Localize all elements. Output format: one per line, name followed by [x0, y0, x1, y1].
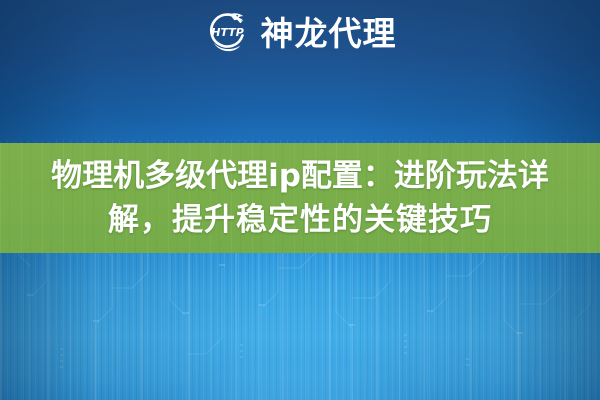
page-title-line-2: 解，提升稳定性的关键技巧	[108, 198, 492, 242]
brand-lockup: HTTP 神龙代理	[204, 9, 397, 57]
page-title-line-1: 物理机多级代理ip配置：进阶玩法详	[51, 154, 549, 198]
promo-banner: HTTP 神龙代理 物理机多级代理ip配置：进阶玩法详 解，提升稳定性的关键技巧	[0, 0, 600, 400]
brand-name: 神龙代理	[261, 17, 397, 50]
dragon-http-circle-logo: HTTP	[204, 9, 252, 57]
title-band: 物理机多级代理ip配置：进阶玩法详 解，提升稳定性的关键技巧	[0, 143, 600, 253]
svg-text:HTTP: HTTP	[211, 26, 244, 39]
banner-header: HTTP 神龙代理	[0, 0, 600, 143]
